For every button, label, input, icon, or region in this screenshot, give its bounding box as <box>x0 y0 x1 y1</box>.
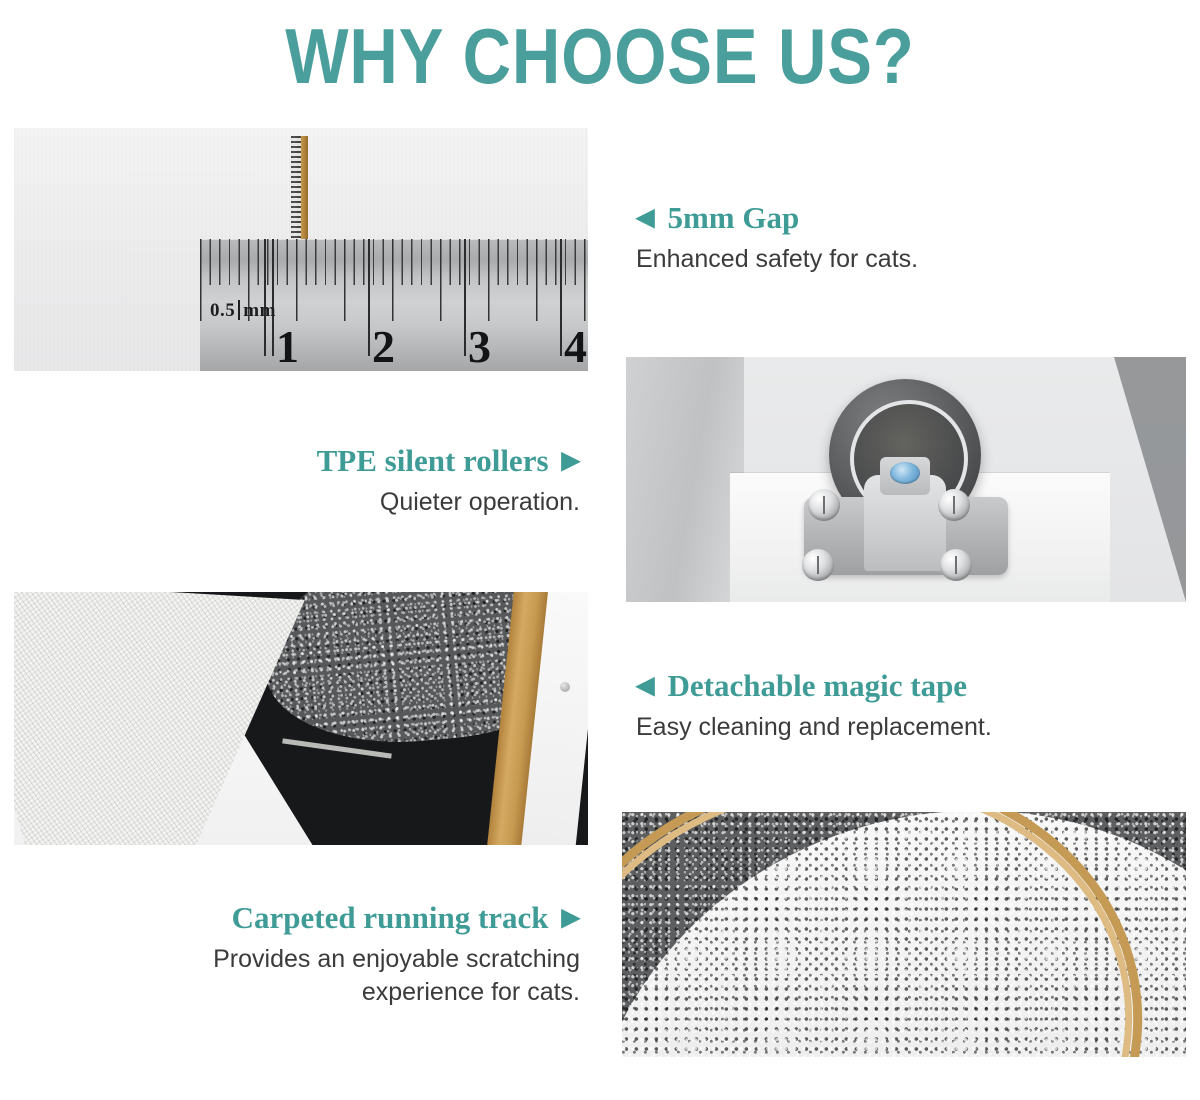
photo-carpeted-running-track <box>622 812 1186 1057</box>
feature-body-track: Provides an enjoyable scratching experie… <box>60 943 580 1009</box>
caster-axle-bolt <box>890 462 920 484</box>
photo-steel-ruler-measuring-gap: 0.5mm 1 2 3 4 <box>14 128 588 371</box>
page-title: WHY CHOOSE US? <box>84 14 1116 98</box>
measured-gap-strip <box>291 136 308 244</box>
caster-right-wall <box>1114 357 1186 602</box>
feature-heading-text: TPE silent rollers <box>317 443 549 479</box>
feature-heading-track: Carpeted running track ▶ <box>60 900 580 936</box>
photo-tpe-caster-wheel <box>626 357 1186 602</box>
caster-screw <box>940 549 972 581</box>
feature-heading-rollers: TPE silent rollers ▶ <box>120 443 580 479</box>
caster-screw <box>808 489 840 521</box>
arrow-right-icon: ▶ <box>562 906 580 930</box>
photo-detachable-magic-tape <box>14 592 588 845</box>
feature-heading-text: Detachable magic tape <box>667 668 967 704</box>
ruler-number: 3 <box>468 324 491 370</box>
caster-left-wall <box>626 357 744 602</box>
ruler-number: 4 <box>564 324 587 370</box>
feature-body-line: experience for cats. <box>60 976 580 1009</box>
feature-body-line: Provides an enjoyable scratching <box>60 943 580 976</box>
feature-body-rollers: Quieter operation. <box>120 486 580 519</box>
arrow-left-icon: ◀ <box>636 206 654 230</box>
feature-body-gap: Enhanced safety for cats. <box>636 243 1156 276</box>
feature-block-track: Carpeted running track ▶ Provides an enj… <box>60 900 580 1009</box>
feature-body-tape: Easy cleaning and replacement. <box>636 711 1176 744</box>
ruler-number-row: 1 2 3 4 <box>200 324 588 370</box>
arrow-right-icon: ▶ <box>562 449 580 473</box>
arrow-left-icon: ◀ <box>636 674 654 698</box>
feature-block-gap: ◀ 5mm Gap Enhanced safety for cats. <box>636 200 1156 276</box>
feature-block-tape: ◀ Detachable magic tape Easy cleaning an… <box>636 668 1176 744</box>
velcro-bolt <box>560 682 570 692</box>
ruler-number: 1 <box>276 324 299 370</box>
caster-screw <box>802 549 834 581</box>
ruler-scale-label: 0.5mm <box>210 300 276 322</box>
ruler-scale-unit: mm <box>243 300 276 321</box>
feature-block-rollers: TPE silent rollers ▶ Quieter operation. <box>120 443 580 519</box>
feature-heading-text: 5mm Gap <box>667 200 799 236</box>
feature-heading-gap: ◀ 5mm Gap <box>636 200 1156 236</box>
feature-heading-text: Carpeted running track <box>232 900 549 936</box>
ruler-number: 2 <box>372 324 395 370</box>
ruler-scale-value: 0.5 <box>210 300 235 321</box>
ruler-label-divider <box>238 300 240 320</box>
caster-screw <box>938 489 970 521</box>
feature-heading-tape: ◀ Detachable magic tape <box>636 668 1176 704</box>
